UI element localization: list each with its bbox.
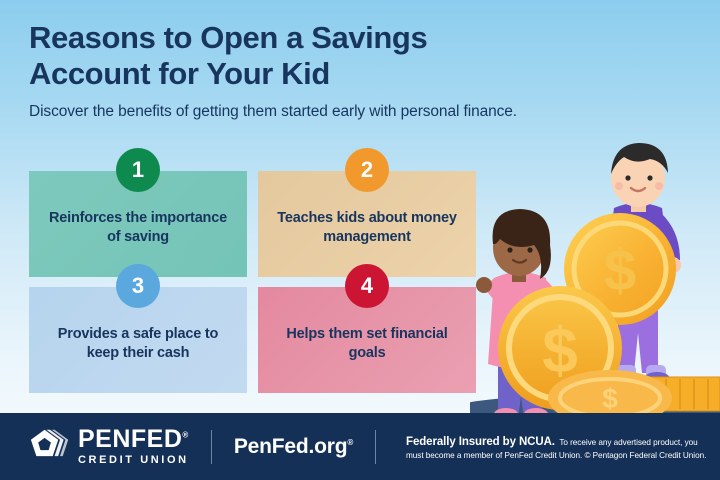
reason-card-1: 1 Reinforces the importance of saving [29, 171, 247, 277]
reason-badge-4: 4 [345, 264, 389, 308]
reason-card-2-text: Teaches kids about money management [270, 209, 464, 247]
reason-card-4-text: Helps them set financial goals [270, 325, 464, 363]
penfed-logo-wordmark: PENFED® CREDIT UNION [78, 427, 189, 466]
header: Reasons to Open a Savings Account for Yo… [29, 20, 589, 121]
illustration-kids-with-coins: $ [470, 130, 720, 418]
reason-card-3-text: Provides a safe place to keep their cash [41, 325, 235, 363]
footer-divider-2 [375, 430, 376, 464]
page-subtitle: Discover the benefits of getting them st… [29, 102, 589, 121]
penfed-logo-name-text: PENFED [78, 425, 182, 453]
infographic-canvas: Reasons to Open a Savings Account for Yo… [0, 0, 720, 480]
svg-text:$: $ [542, 314, 578, 386]
page-title-line-2: Account for Your Kid [29, 56, 330, 91]
page-title: Reasons to Open a Savings Account for Yo… [29, 20, 589, 92]
penfed-logo-registered: ® [182, 431, 188, 440]
reason-badge-1: 1 [116, 148, 160, 192]
legal-text-line-1: To receive any advertised product, you [559, 438, 697, 447]
website-link[interactable]: PenFed.org® [234, 435, 353, 459]
reason-badge-2: 2 [345, 148, 389, 192]
reason-card-3: 3 Provides a safe place to keep their ca… [29, 287, 247, 393]
reason-card-2: 2 Teaches kids about money management [258, 171, 476, 277]
penfed-logo: PENFED® CREDIT UNION [30, 427, 189, 467]
pentagon-logo-icon [30, 427, 70, 467]
website-registered: ® [347, 438, 353, 447]
page-title-line-1: Reasons to Open a Savings [29, 20, 427, 55]
website-link-text: PenFed.org [234, 435, 348, 458]
penfed-logo-tagline: CREDIT UNION [78, 455, 189, 466]
penfed-logo-name: PENFED® [78, 427, 189, 452]
reason-badge-3: 3 [116, 264, 160, 308]
legal-headline: Federally Insured by NCUA. [406, 436, 555, 448]
legal-disclaimer: Federally Insured by NCUA. To receive an… [406, 432, 720, 462]
reason-card-4: 4 Helps them set financial goals [258, 287, 476, 393]
footer-bar: PENFED® CREDIT UNION PenFed.org® Federal… [0, 413, 720, 480]
svg-text:$: $ [604, 238, 636, 303]
legal-text-line-2: must become a member of PenFed Credit Un… [406, 450, 720, 462]
reasons-card-grid: 1 Reinforces the importance of saving 2 … [29, 171, 476, 393]
svg-text:$: $ [602, 383, 618, 414]
reason-card-1-text: Reinforces the importance of saving [41, 209, 235, 247]
footer-divider-1 [211, 430, 212, 464]
